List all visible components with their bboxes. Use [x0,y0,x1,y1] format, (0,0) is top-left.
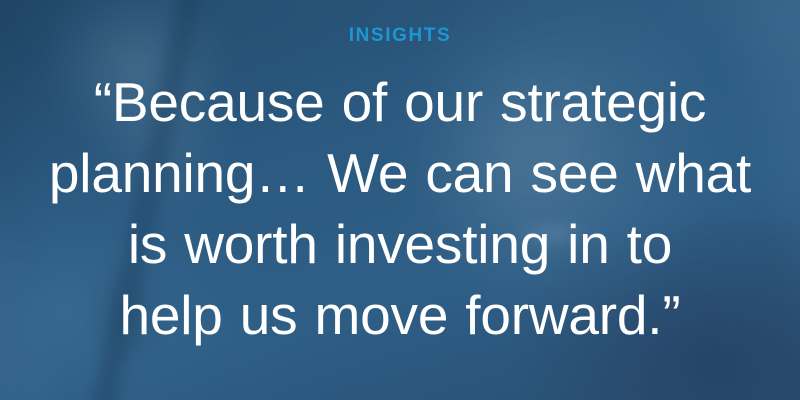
quote-line-2: planning… We can see what [40,138,760,209]
quote-slide: INSIGHTS “Because of our strategic plann… [0,0,800,400]
slide-content: INSIGHTS “Because of our strategic plann… [0,0,800,400]
quote-line-1: “Because of our strategic [40,67,760,138]
eyebrow-label: INSIGHTS [349,26,452,45]
quote-text: “Because of our strategic planning… We c… [40,67,760,351]
quote-line-4: help us move forward.” [40,280,760,351]
quote-line-3: is worth investing in to [40,209,760,280]
